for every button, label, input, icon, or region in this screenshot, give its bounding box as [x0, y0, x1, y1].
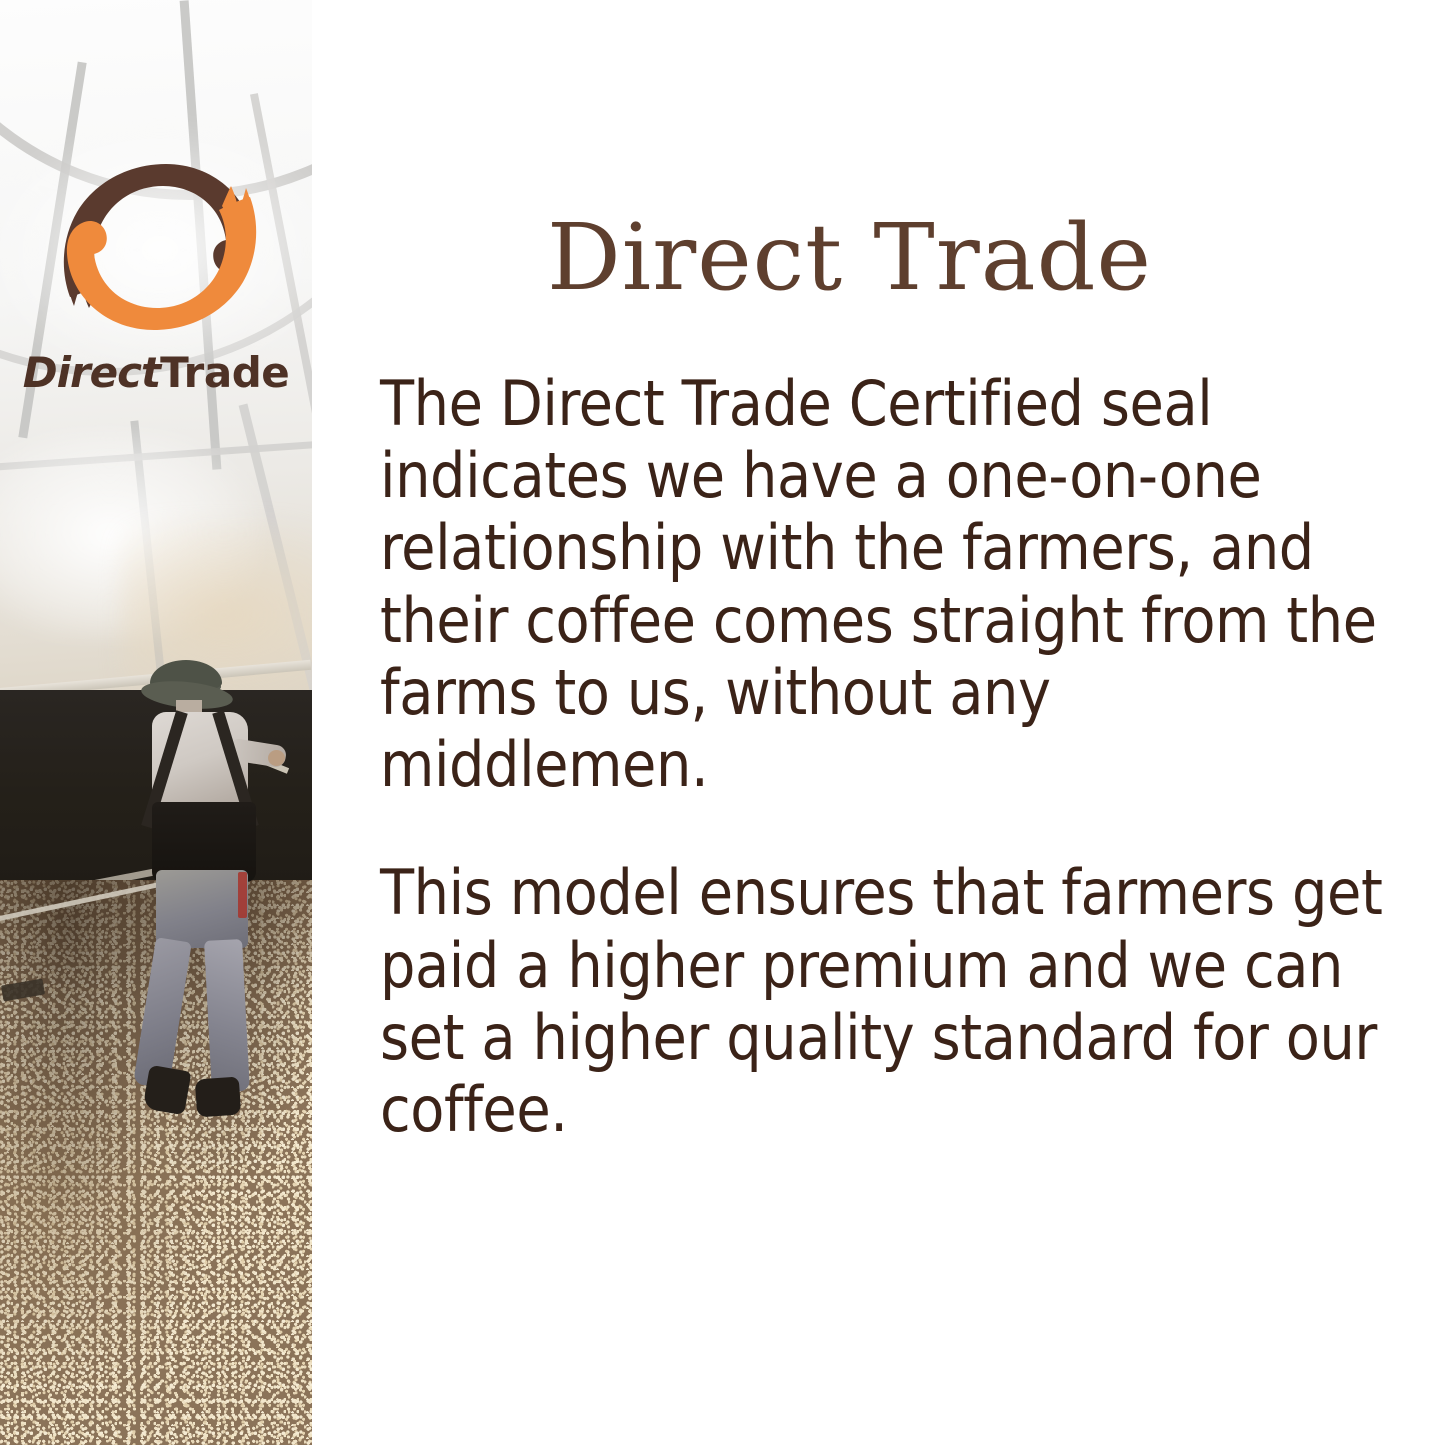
- farmer-jeans-hip: [156, 870, 248, 948]
- wordmark-direct: Direct: [23, 348, 160, 397]
- brand-logo-block: DirectTrade: [0, 0, 312, 420]
- paragraph-one: The Direct Trade Certified seal indicate…: [380, 368, 1390, 801]
- direct-trade-infographic: DirectTrade Direct Trade The Direct Trad…: [0, 0, 1445, 1445]
- farmer-right-hand: [268, 750, 285, 766]
- page-title: Direct Trade: [312, 212, 1387, 304]
- direct-trade-hands-circle-icon: [62, 158, 258, 336]
- brand-wordmark: DirectTrade: [0, 352, 312, 394]
- left-photo-panel: DirectTrade: [0, 0, 312, 1445]
- paragraph-two: This model ensures that farmers get paid…: [380, 857, 1390, 1146]
- body-copy: The Direct Trade Certified seal indicate…: [380, 368, 1390, 1146]
- farmer-left-boot: [142, 1065, 191, 1116]
- farmer-right-boot: [195, 1077, 242, 1118]
- wordmark-trade: Trade: [160, 348, 289, 397]
- farmer-red-item-in-pocket: [238, 872, 247, 918]
- right-content-panel: Direct Trade The Direct Trade Certified …: [312, 0, 1445, 1445]
- farmer-right-leg: [204, 939, 250, 1093]
